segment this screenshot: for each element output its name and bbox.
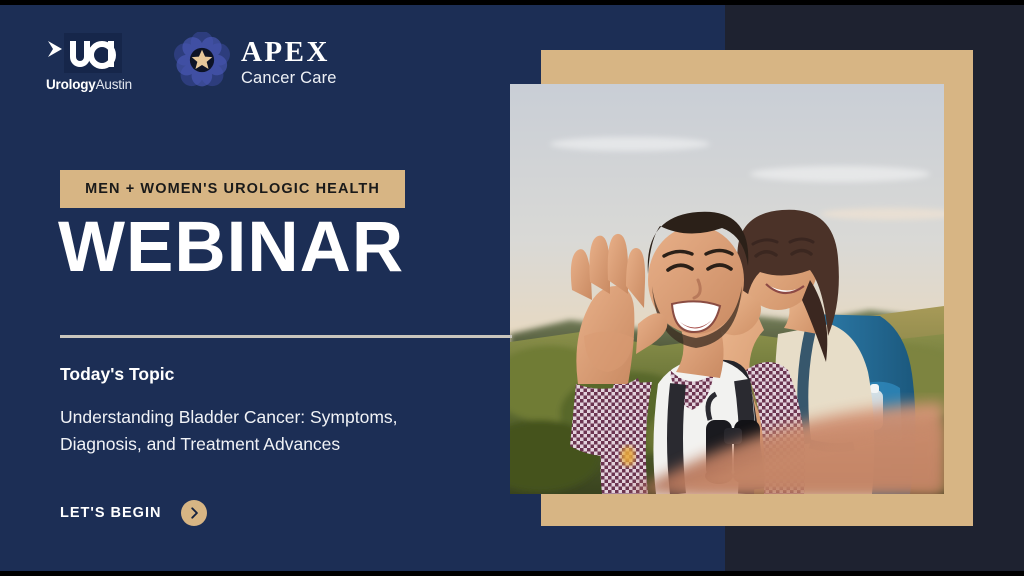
apex-flower-star-logo-icon xyxy=(174,32,230,93)
logo-row: UrologyAustin xyxy=(46,32,337,93)
apex-title: APEX xyxy=(241,38,337,67)
hero-photo xyxy=(510,84,944,494)
urology-austin-logo-icon xyxy=(46,33,122,73)
topic-text: Understanding Bladder Cancer: Symptoms, … xyxy=(60,404,480,457)
topic-label: Today's Topic xyxy=(60,364,174,385)
austin-word: Austin xyxy=(96,77,132,92)
apex-cancer-care-logo: APEX Cancer Care xyxy=(174,32,337,93)
lets-begin-label: LET'S BEGIN xyxy=(60,505,161,521)
section-divider xyxy=(60,335,512,338)
chevron-right-icon[interactable] xyxy=(181,500,207,526)
urology-austin-logo: UrologyAustin xyxy=(46,33,132,92)
eyebrow-banner-text: MEN + WOMEN'S UROLOGIC HEALTH xyxy=(85,181,380,197)
letterbox-bottom xyxy=(0,571,1024,576)
urology-austin-wordmark: UrologyAustin xyxy=(46,77,132,92)
apex-wordmark: APEX Cancer Care xyxy=(241,38,337,87)
lets-begin-button[interactable]: LET'S BEGIN xyxy=(60,500,207,526)
letterbox-top xyxy=(0,0,1024,5)
eyebrow-banner: MEN + WOMEN'S UROLOGIC HEALTH xyxy=(60,170,405,208)
page-title: WEBINAR xyxy=(58,212,404,283)
apex-subtitle: Cancer Care xyxy=(241,70,337,87)
urology-word: Urology xyxy=(46,77,96,92)
webinar-slide: UrologyAustin xyxy=(0,0,1024,576)
